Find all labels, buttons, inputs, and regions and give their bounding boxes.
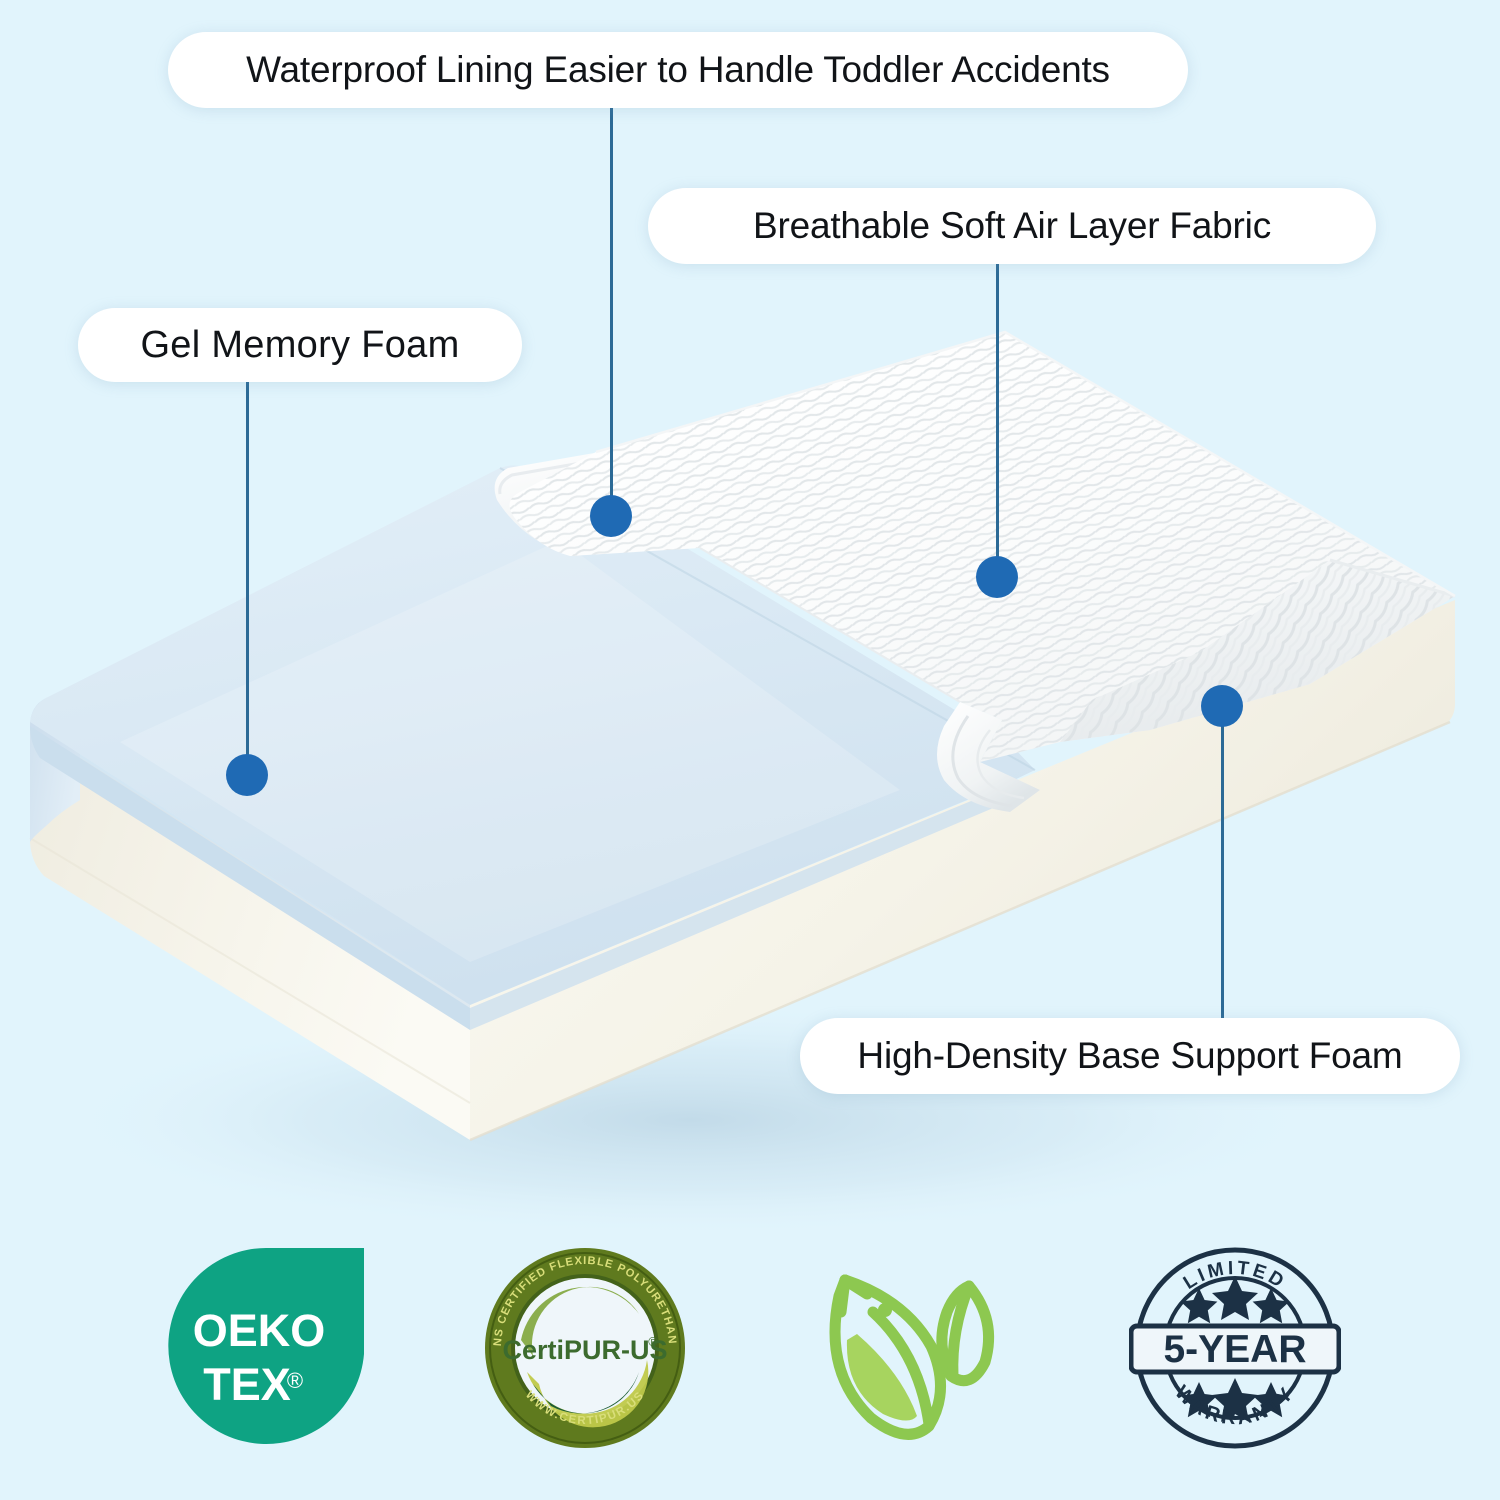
label-base-support-foam-text: High-Density Base Support Foam (857, 1035, 1402, 1077)
warranty-seal-icon: 5-YEAR LIMITED WARRANTY (1129, 1242, 1341, 1454)
callout-line-waterproof-lining (610, 108, 613, 508)
warranty-banner-text: 5-YEAR (1163, 1328, 1306, 1371)
label-waterproof-lining-text: Waterproof Lining Easier to Handle Toddl… (246, 49, 1110, 91)
eco-leaf-icon (801, 1250, 1017, 1446)
callout-dot-breathable-fabric[interactable] (976, 556, 1018, 598)
label-gel-memory-foam[interactable]: Gel Memory Foam (78, 308, 522, 382)
label-breathable-fabric[interactable]: Breathable Soft Air Layer Fabric (648, 188, 1376, 264)
oeko-tex-line1: OEKO (193, 1305, 326, 1356)
certification-badge-row: OEKO TEX ® CertiPUR-US ® (0, 1228, 1500, 1468)
oeko-tex-icon: OEKO TEX ® (159, 1242, 369, 1454)
certipur-us-badge[interactable]: CertiPUR-US ® CONTAINS CERTIFIED FLEXIBL… (481, 1244, 689, 1452)
label-base-support-foam[interactable]: High-Density Base Support Foam (800, 1018, 1460, 1094)
callout-dot-base-support-foam[interactable] (1201, 685, 1243, 727)
label-waterproof-lining[interactable]: Waterproof Lining Easier to Handle Toddl… (168, 32, 1188, 108)
label-gel-memory-foam-text: Gel Memory Foam (140, 324, 459, 367)
certipur-center-text: CertiPUR-US (502, 1335, 667, 1365)
certipur-us-icon: CertiPUR-US ® CONTAINS CERTIFIED FLEXIBL… (481, 1244, 689, 1452)
label-breathable-fabric-text: Breathable Soft Air Layer Fabric (753, 205, 1271, 247)
callout-line-gel-memory-foam (246, 382, 249, 766)
callout-dot-waterproof-lining[interactable] (590, 495, 632, 537)
eco-leaves-badge[interactable] (801, 1250, 1017, 1446)
oeko-tex-line2: TEX (203, 1359, 291, 1410)
callout-dot-gel-memory-foam[interactable] (226, 754, 268, 796)
warranty-badge[interactable]: 5-YEAR LIMITED WARRANTY (1129, 1242, 1341, 1454)
oeko-tex-registered-mark: ® (287, 1368, 303, 1393)
oeko-tex-badge[interactable]: OEKO TEX ® (159, 1242, 369, 1454)
certipur-registered-mark: ® (648, 1334, 658, 1349)
infographic-canvas: Waterproof Lining Easier to Handle Toddl… (0, 0, 1500, 1500)
callout-line-base-support-foam (1221, 722, 1224, 1022)
callout-line-breathable-fabric (996, 264, 999, 570)
